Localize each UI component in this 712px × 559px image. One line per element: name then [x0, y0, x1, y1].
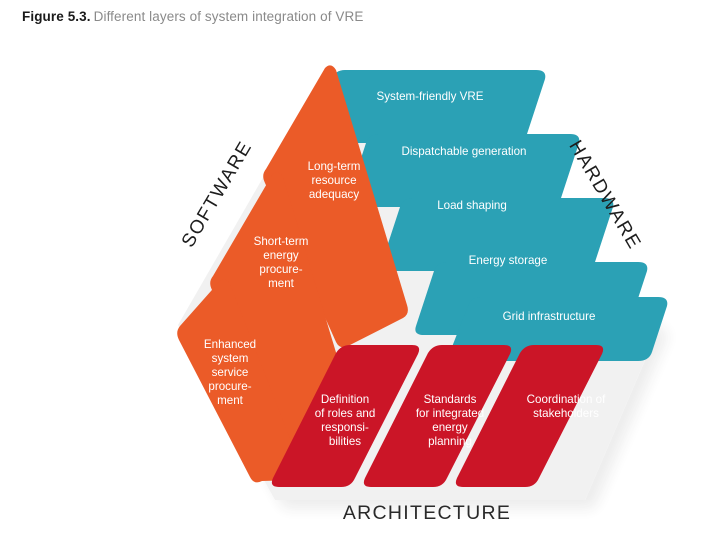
architecture-label-1-line-3: planning: [428, 435, 472, 448]
figure-root: Figure 5.3.Different layers of system in…: [0, 0, 712, 559]
software-label-2-line-2: service: [212, 366, 249, 379]
software-label-2-line-3: procure-: [208, 380, 251, 393]
architecture-label-0-line-2: responsi-: [321, 421, 369, 434]
architecture-label-2-line-1: stakeholders: [533, 407, 599, 420]
architecture-label-1-line-2: energy: [432, 421, 468, 434]
software-label-0-line-0: Long-term: [308, 160, 361, 173]
architecture-label-0-line-1: of roles and: [315, 407, 376, 420]
software-label-1-line-0: Short-term: [254, 235, 309, 248]
software-label-2-line-1: system: [212, 352, 249, 365]
hardware-label-1: Dispatchable generation: [401, 145, 526, 158]
software-label-2-line-0: Enhanced: [204, 338, 256, 351]
hardware-label-4: Grid infrastructure: [503, 310, 596, 323]
hardware-label-0: System-friendly VRE: [377, 90, 484, 103]
software-label-1-line-1: energy: [263, 249, 299, 262]
system-integration-diagram: System-friendly VRE Dispatchable generat…: [0, 0, 712, 559]
architecture-label-0-line-3: bilities: [329, 435, 361, 448]
software-label-0-line-1: resource: [311, 174, 356, 187]
architecture-label-1-line-1: for integrated: [416, 407, 484, 420]
axis-label-architecture: ARCHITECTURE: [343, 502, 511, 524]
hardware-label-3: Energy storage: [469, 254, 548, 267]
architecture-label-0-line-0: Definition: [321, 393, 369, 406]
architecture-label-2-line-0: Coordination of: [527, 393, 606, 406]
architecture-label-1-line-0: Standards: [424, 393, 477, 406]
software-label-1-line-3: ment: [268, 277, 295, 290]
hardware-label-2: Load shaping: [437, 199, 507, 212]
software-label-1-line-2: procure-: [259, 263, 302, 276]
software-label-0-line-2: adequacy: [309, 188, 359, 201]
software-label-2-line-4: ment: [217, 394, 244, 407]
hardware-item-dispatchable-generation[interactable]: Dispatchable generation: [347, 134, 579, 207]
